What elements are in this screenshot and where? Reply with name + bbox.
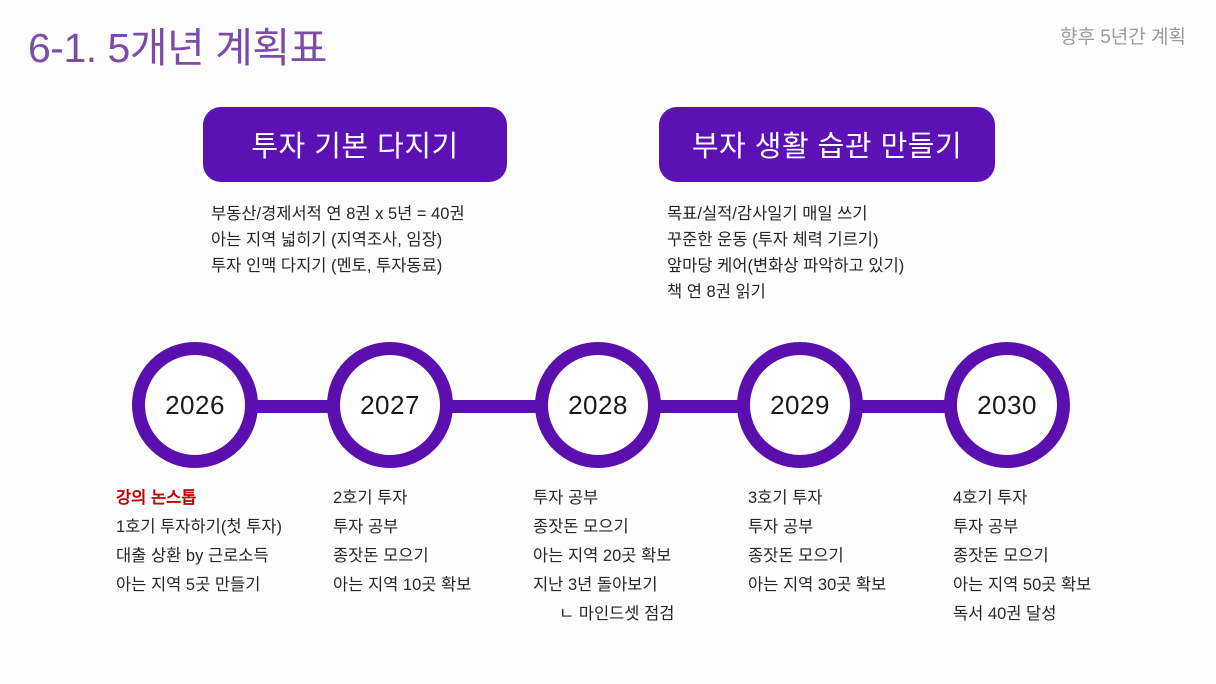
year-detail-line: 독서 40권 달성 [953,600,1168,629]
year-detail-line: 종잣돈 모으기 [953,542,1168,571]
theme-pill-rich-habits: 부자 생활 습관 만들기 [659,107,995,182]
theme-line: 꾸준한 운동 (투자 체력 기르기) [667,227,995,253]
year-detail-line: 1호기 투자하기(첫 투자) [116,513,331,542]
year-detail-line: 아는 지역 5곳 만들기 [116,571,331,600]
theme-lines-investment-basics: 부동산/경제서적 연 8권 x 5년 = 40권 아는 지역 넓히기 (지역조사… [203,201,507,279]
year-detail-line: 종잣돈 모으기 [533,513,748,542]
year-detail-subline: ㄴ 마인드셋 점검 [533,600,748,629]
theme-line: 부동산/경제서적 연 8권 x 5년 = 40권 [211,201,507,227]
page-title: 6-1. 5개년 계획표 [28,14,327,74]
year-details-2030: 4호기 투자 투자 공부 종잣돈 모으기 아는 지역 50곳 확보 독서 40권… [953,484,1168,629]
year-detail-line: 종잣돈 모으기 [748,542,963,571]
year-detail-line: 대출 상환 by 근로소득 [116,542,331,571]
year-detail-line: 4호기 투자 [953,484,1168,513]
timeline-node-2026[interactable]: 2026 [132,342,258,468]
theme-line: 아는 지역 넓히기 (지역조사, 임장) [211,227,507,253]
theme-pill-investment-basics: 투자 기본 다지기 [203,107,507,182]
timeline: 2026 2027 2028 2029 2030 [0,342,1216,470]
year-detail-line: 아는 지역 50곳 확보 [953,571,1168,600]
year-details-2026: 강의 논스톱 1호기 투자하기(첫 투자) 대출 상환 by 근로소득 아는 지… [116,484,331,600]
year-detail-line: 강의 논스톱 [116,484,331,513]
theme-line: 앞마당 케어(변화상 파악하고 있기) [667,253,995,279]
year-detail-line: 투자 공부 [748,513,963,542]
slide-kicker: 향후 5년간 계획 [1060,22,1186,49]
theme-line: 목표/실적/감사일기 매일 쓰기 [667,201,995,227]
year-detail-line: 아는 지역 30곳 확보 [748,571,963,600]
timeline-connector [446,400,542,413]
timeline-connector [654,400,744,413]
timeline-node-2028[interactable]: 2028 [535,342,661,468]
year-detail-line: 2호기 투자 [333,484,548,513]
year-detail-line: 종잣돈 모으기 [333,542,548,571]
year-detail-line: 투자 공부 [333,513,548,542]
timeline-year-label: 2029 [770,390,830,421]
year-detail-line: 투자 공부 [953,513,1168,542]
timeline-connector [856,400,952,413]
slide-canvas: 6-1. 5개년 계획표 향후 5년간 계획 투자 기본 다지기 부동산/경제서… [0,0,1216,684]
timeline-node-2030[interactable]: 2030 [944,342,1070,468]
timeline-year-label: 2026 [165,390,225,421]
year-detail-line: 투자 공부 [533,484,748,513]
year-details-2027: 2호기 투자 투자 공부 종잣돈 모으기 아는 지역 10곳 확보 [333,484,548,600]
timeline-node-2029[interactable]: 2029 [737,342,863,468]
theme-line: 책 연 8권 읽기 [667,279,995,305]
timeline-year-label: 2027 [360,390,420,421]
year-detail-line: 지난 3년 돌아보기 [533,571,748,600]
theme-line: 투자 인맥 다지기 (멘토, 투자동료) [211,253,507,279]
timeline-year-label: 2028 [568,390,628,421]
theme-lines-rich-habits: 목표/실적/감사일기 매일 쓰기 꾸준한 운동 (투자 체력 기르기) 앞마당 … [659,201,995,305]
timeline-node-2027[interactable]: 2027 [327,342,453,468]
year-details-2028: 투자 공부 종잣돈 모으기 아는 지역 20곳 확보 지난 3년 돌아보기 ㄴ … [533,484,748,629]
year-detail-line: 아는 지역 10곳 확보 [333,571,548,600]
year-detail-line: 아는 지역 20곳 확보 [533,542,748,571]
theme-block-rich-habits: 부자 생활 습관 만들기 목표/실적/감사일기 매일 쓰기 꾸준한 운동 (투자… [659,107,995,305]
year-details-2029: 3호기 투자 투자 공부 종잣돈 모으기 아는 지역 30곳 확보 [748,484,963,600]
timeline-year-label: 2030 [977,390,1037,421]
year-detail-line: 3호기 투자 [748,484,963,513]
theme-block-investment-basics: 투자 기본 다지기 부동산/경제서적 연 8권 x 5년 = 40권 아는 지역… [203,107,507,279]
